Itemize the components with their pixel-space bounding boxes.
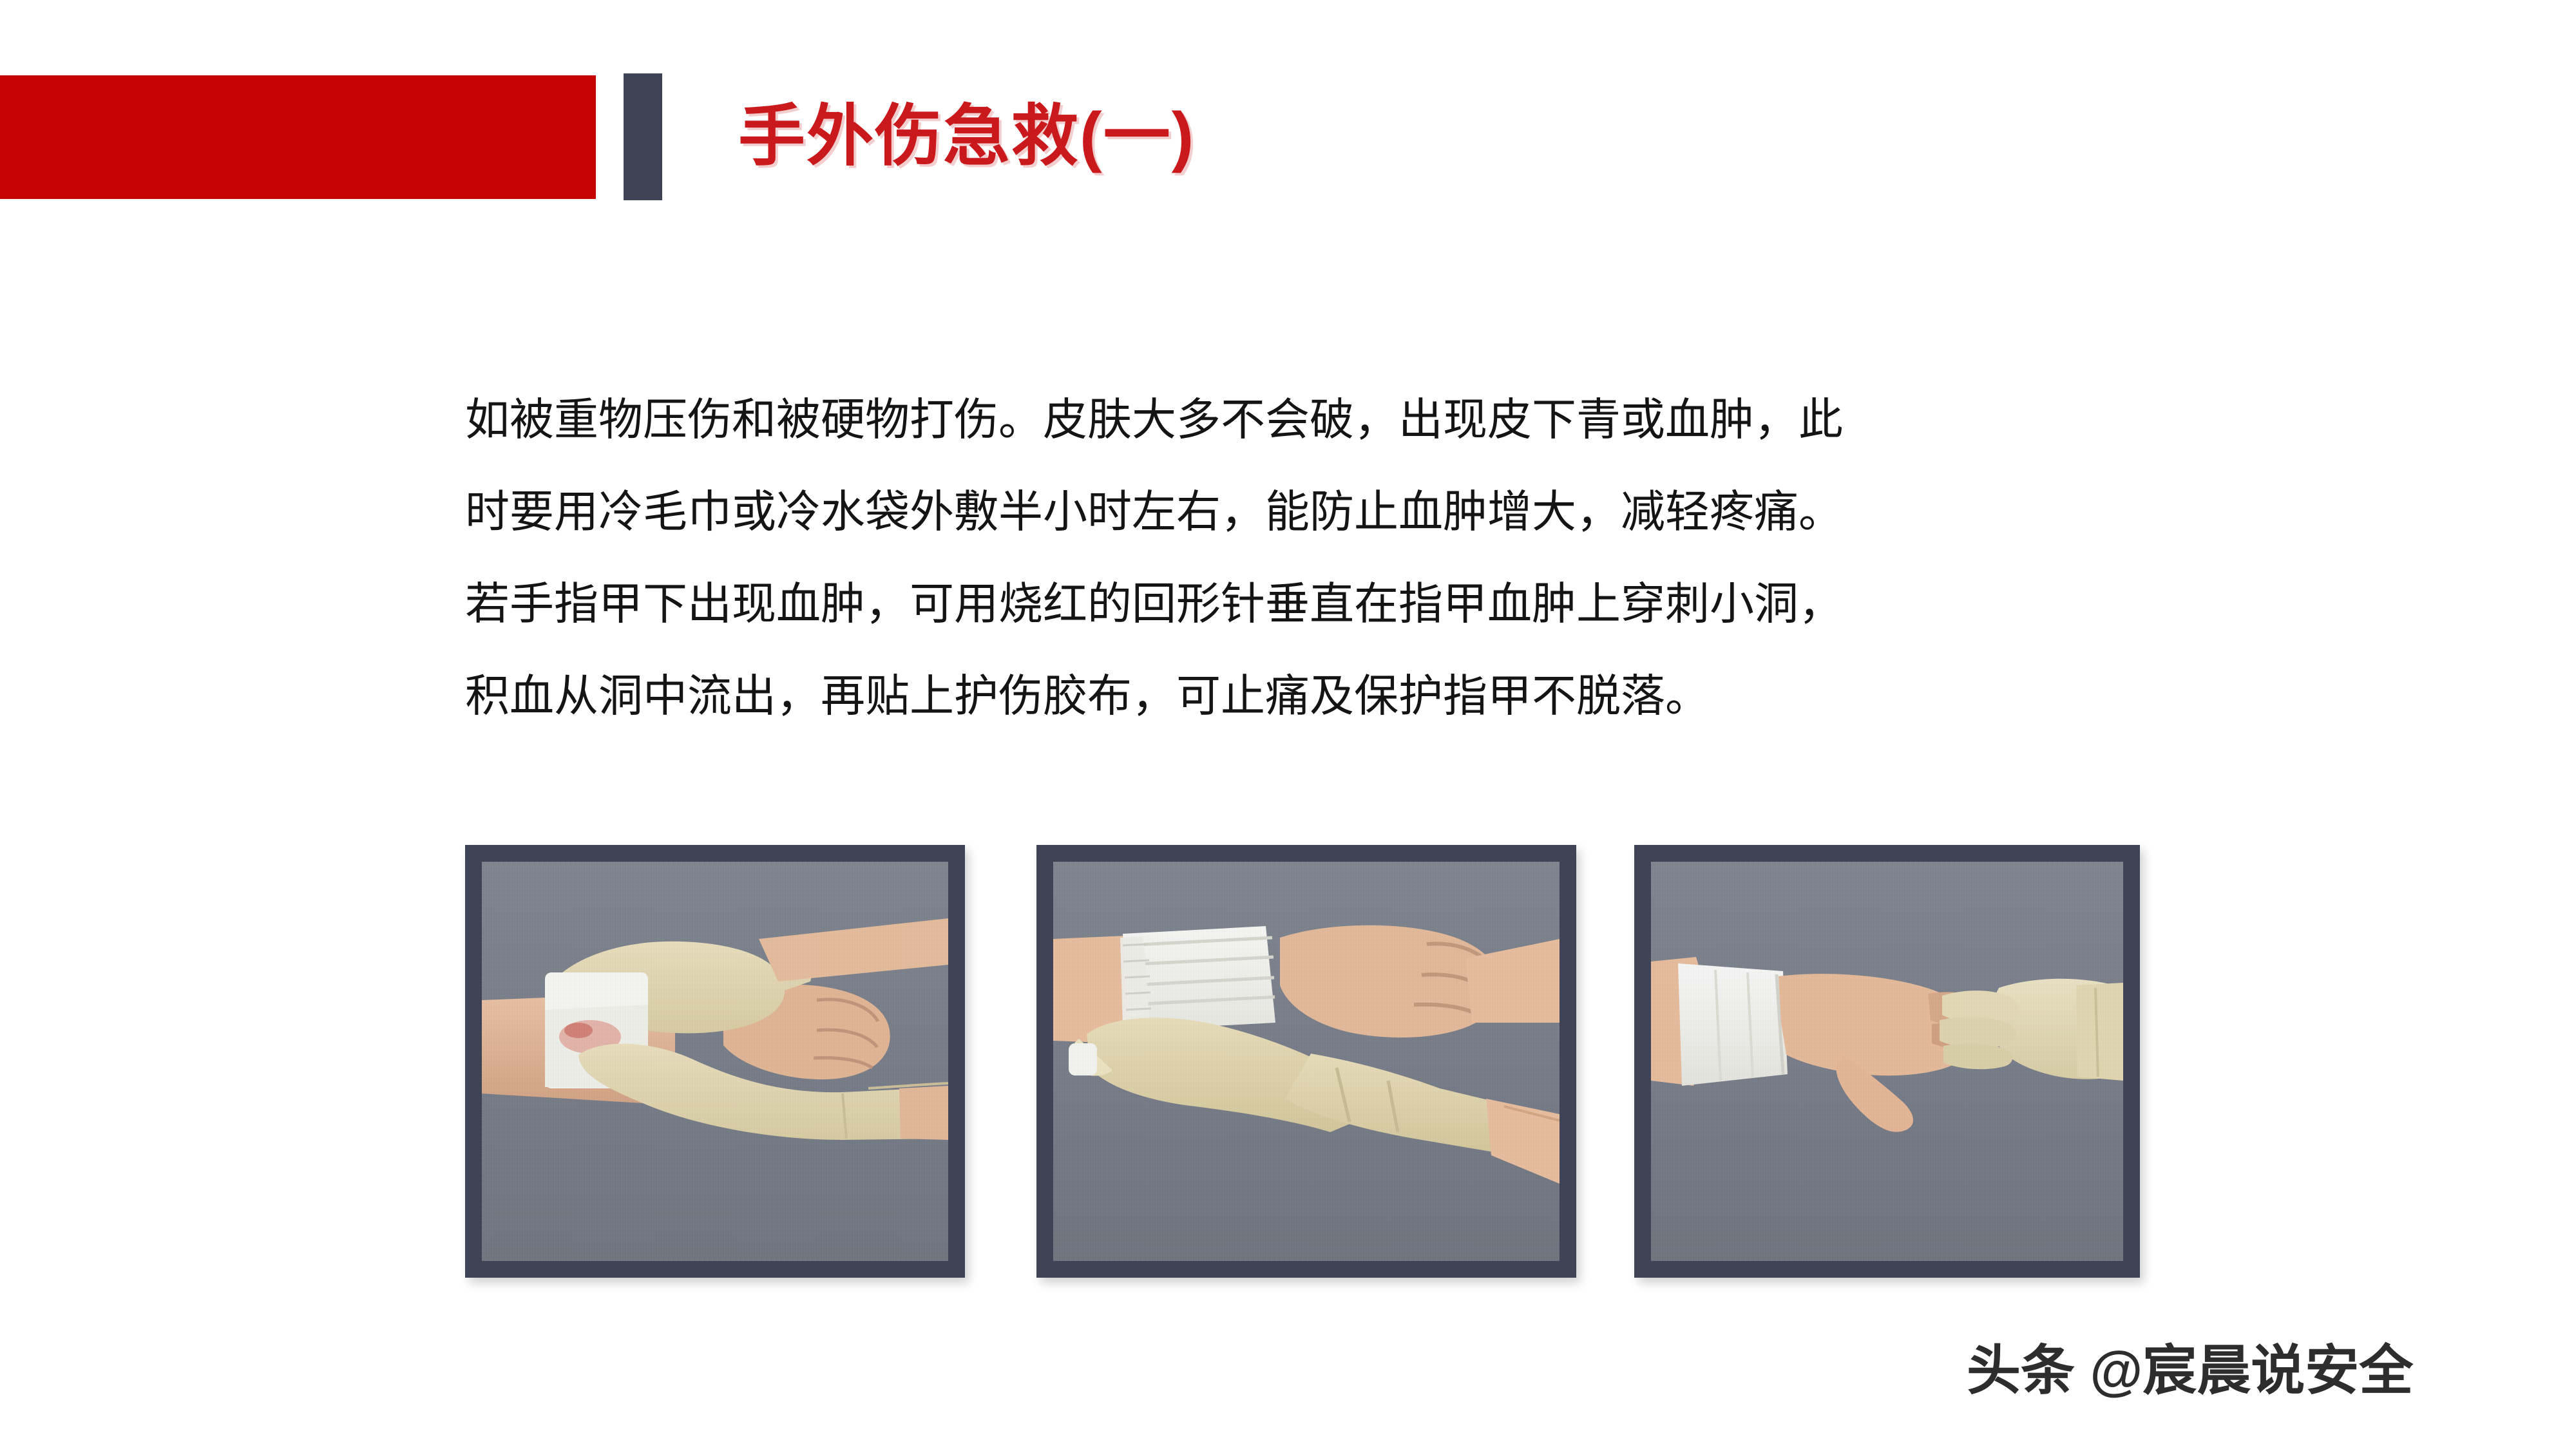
body-line-4: 积血从洞中流出，再贴上护伤胶布，可止痛及保护指甲不脱落。 xyxy=(465,650,2204,742)
photo-2-image xyxy=(1053,862,1560,1261)
body-line-3: 若手指甲下出现血肿，可用烧红的回形针垂直在指甲血肿上穿刺小洞， xyxy=(465,558,2204,650)
photo-2-illustration xyxy=(1053,862,1560,1261)
page-title: 手外伤急救(一) xyxy=(738,72,1195,201)
photo-bandaged-wrist-finished xyxy=(1634,845,2140,1278)
body-paragraph: 如被重物压伤和被硬物打伤。皮肤大多不会破，出现皮下青或血肿，此 时要用冷毛巾或冷… xyxy=(465,374,2204,742)
title-accent-bar xyxy=(624,73,662,200)
body-line-2: 时要用冷毛巾或冷水袋外敷半小时左右，能防止血肿增大，减轻疼痛。 xyxy=(465,466,2204,558)
photo-bandage-wrapping-wrist xyxy=(1036,845,1576,1278)
photo-gauze-pad-on-wrist xyxy=(465,845,965,1278)
photo-1-image xyxy=(482,862,948,1261)
body-line-1: 如被重物压伤和被硬物打伤。皮肤大多不会破，出现皮下青或血肿，此 xyxy=(465,374,2204,466)
header-red-banner xyxy=(0,75,596,199)
photo-strip xyxy=(465,845,2140,1278)
slide-header: 手外伤急救(一) xyxy=(0,0,2576,277)
photo-3-image xyxy=(1651,862,2123,1261)
watermark-text: 头条 @宸晨说安全 xyxy=(1967,1338,2413,1403)
photo-1-illustration xyxy=(482,862,948,1261)
photo-3-illustration xyxy=(1651,862,2123,1261)
